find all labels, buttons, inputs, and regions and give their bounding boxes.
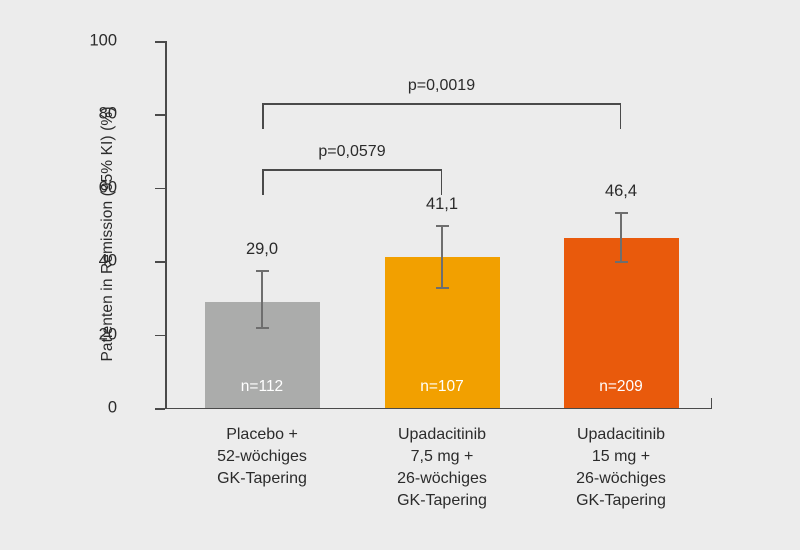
y-tick-label: 60	[73, 178, 117, 197]
error-bar-lower-cap	[436, 287, 449, 289]
x-category-label-line: Upadacitinib	[526, 424, 716, 446]
error-bar-upper-cap	[256, 270, 269, 272]
bracket-left-leg	[262, 169, 264, 195]
y-tick-label: 80	[73, 105, 117, 124]
bar-n-label: n=112	[205, 378, 320, 396]
bracket-top-line	[262, 169, 442, 171]
error-bar-lower-cap	[615, 261, 628, 263]
bar-n-label: n=107	[385, 378, 500, 396]
x-category-label-line: GK-Tapering	[347, 490, 537, 512]
y-tick-label: 20	[73, 325, 117, 344]
y-tick-label: 40	[73, 252, 117, 271]
bar-value-label: 41,1	[382, 195, 502, 214]
x-category-label: Upadacitinib7,5 mg +26-wöchigesGK-Taperi…	[347, 424, 537, 512]
error-bar-line	[620, 212, 622, 263]
y-tick-mark	[155, 114, 165, 116]
bar-chart: Patienten in Remission (95% KI) (%) 0204…	[0, 0, 800, 550]
bracket-top-line	[262, 103, 621, 105]
y-tick-mark	[155, 335, 165, 337]
error-bar-line	[441, 225, 443, 289]
y-tick-label: 0	[73, 399, 117, 418]
error-bar-lower-cap	[256, 327, 269, 329]
y-axis-line	[165, 41, 167, 409]
p-value-label: p=0,0579	[212, 143, 492, 161]
bracket-right-leg	[441, 169, 443, 195]
x-category-label-line: Placebo +	[167, 424, 357, 446]
x-axis-end-tick	[711, 398, 713, 408]
error-bar-line	[261, 270, 263, 329]
x-category-label-line: Upadacitinib	[347, 424, 537, 446]
bar-value-label: 46,4	[561, 182, 681, 201]
x-category-label-line: 7,5 mg +	[347, 446, 537, 468]
x-category-label-line: 26-wöchiges	[526, 468, 716, 490]
error-bar-upper-cap	[436, 225, 449, 227]
bar-n-label: n=209	[564, 378, 679, 396]
x-category-label-line: 26-wöchiges	[347, 468, 537, 490]
bracket-left-leg	[262, 103, 264, 129]
p-value-label: p=0,0019	[212, 77, 671, 95]
bar: n=209	[564, 238, 679, 408]
y-tick-mark	[155, 188, 165, 190]
y-tick-mark	[155, 261, 165, 263]
bracket-right-leg	[620, 103, 622, 129]
x-category-label-line: GK-Tapering	[167, 468, 357, 490]
x-category-label-line: GK-Tapering	[526, 490, 716, 512]
y-tick-mark	[155, 408, 165, 410]
error-bar-upper-cap	[615, 212, 628, 214]
x-category-label: Placebo +52-wöchigesGK-Tapering	[167, 424, 357, 490]
x-category-label-line: 15 mg +	[526, 446, 716, 468]
x-category-label: Upadacitinib15 mg +26-wöchigesGK-Taperin…	[526, 424, 716, 512]
y-tick-label: 100	[73, 32, 117, 51]
x-category-label-line: 52-wöchiges	[167, 446, 357, 468]
bar-value-label: 29,0	[202, 240, 322, 259]
y-tick-mark	[155, 41, 165, 43]
